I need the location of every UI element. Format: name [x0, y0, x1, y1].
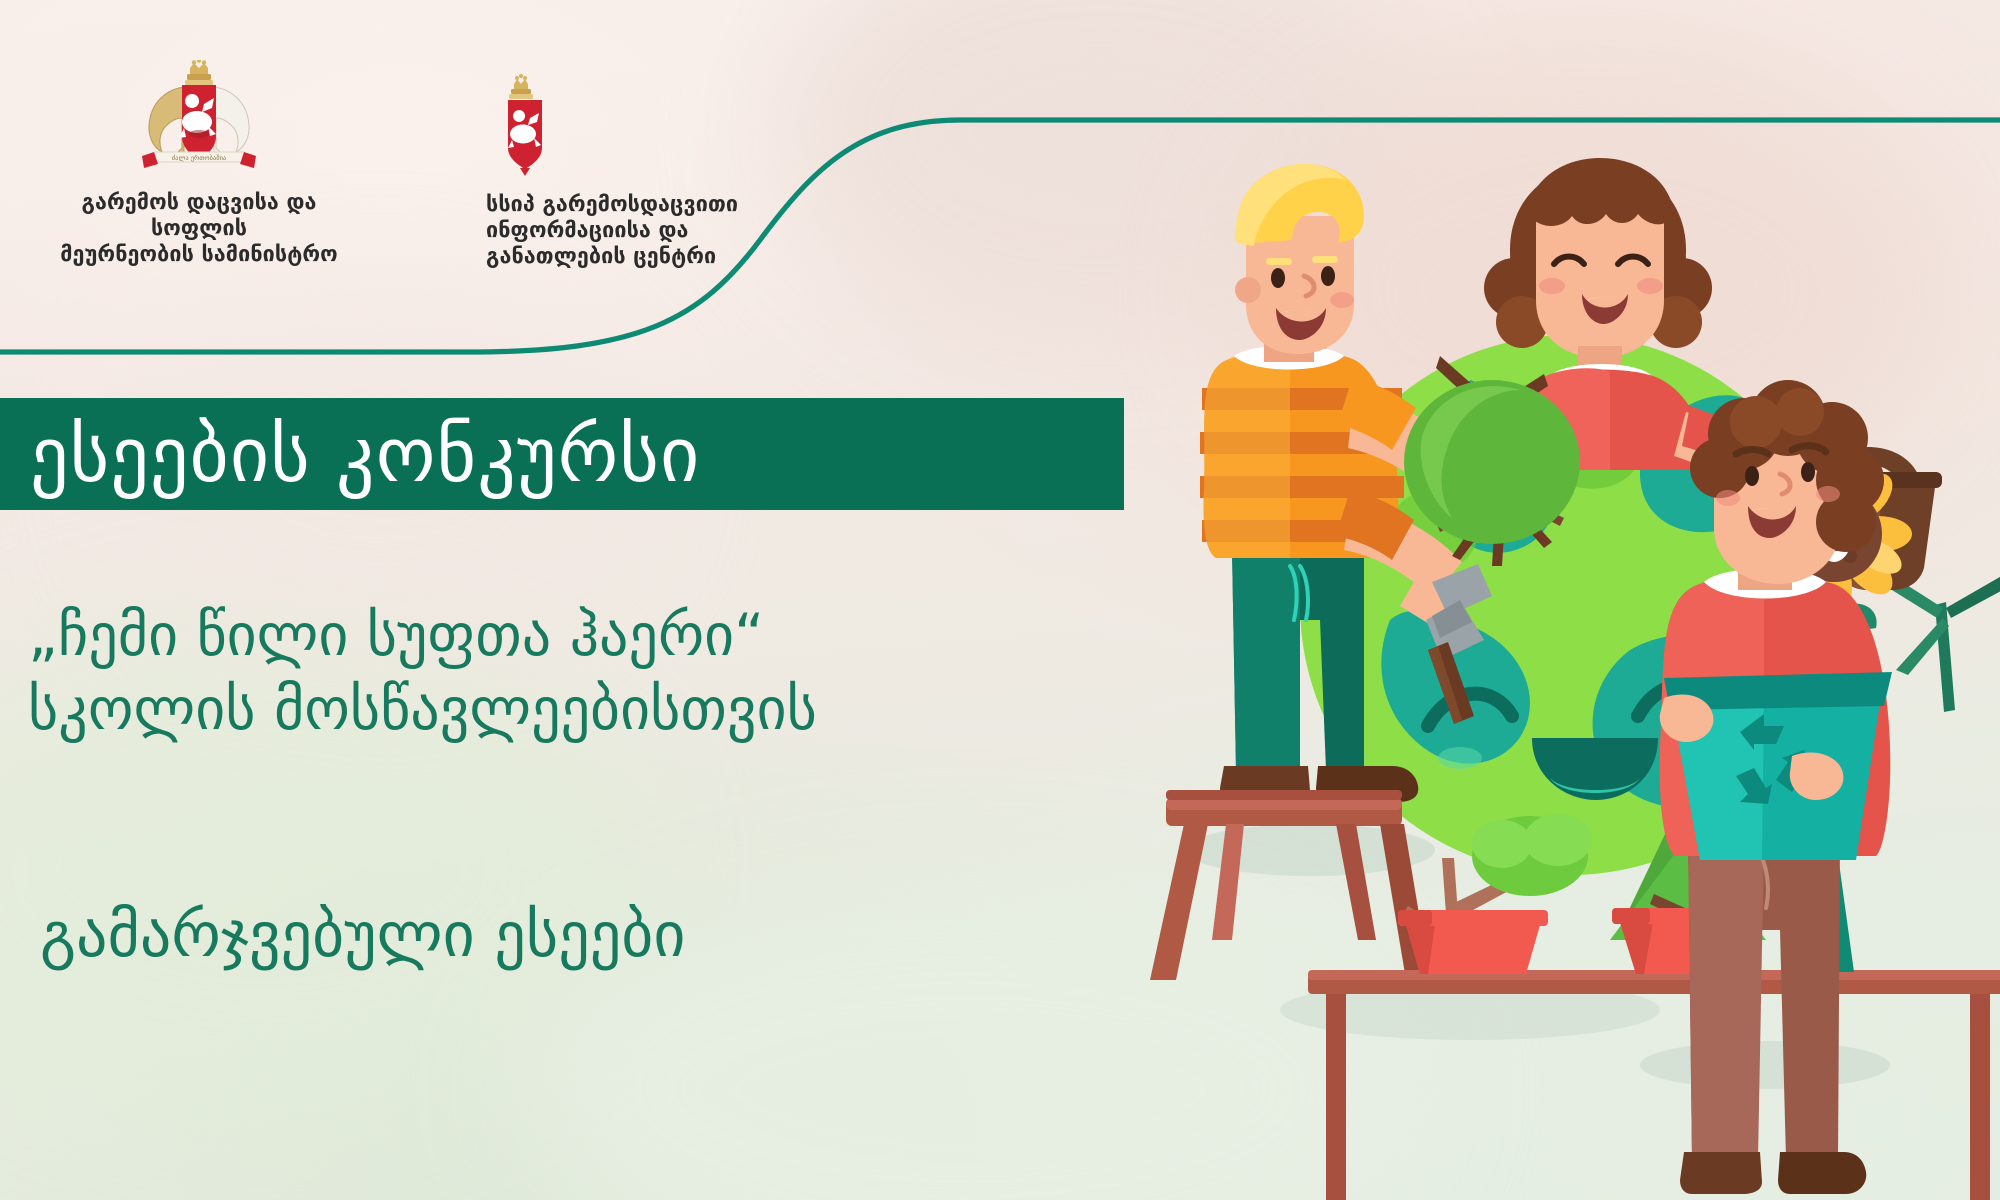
- georgia-shield-icon: [486, 72, 816, 180]
- logo-ministry-label: გარემოს დაცვისა და სოფლის მეურნეობის სამ…: [34, 190, 364, 269]
- logo-ministry: ძალა ერთობაშია გარემოს დაცვისა და სოფლის…: [34, 60, 364, 269]
- subtitle-line-2: სკოლის მოსწავლეებისთვის: [28, 672, 1208, 746]
- ground-shadow-right: [1640, 1041, 1890, 1089]
- logo-row: ძალა ერთობაშია გარემოს დაცვისა და სოფლის…: [0, 60, 900, 260]
- poster-canvas: ძალა ერთობაშია გარემოს დაცვისა და სოფლის…: [0, 0, 2000, 1200]
- illustration-children-caring-for-earth: [1140, 150, 2000, 1200]
- bottom-heading: გამარჯვებული ესეები: [40, 898, 1240, 971]
- subtitle-line-1: „ჩემი წილი სუფთა ჰაერი“: [28, 601, 764, 669]
- round-tree-behind: [1404, 380, 1580, 544]
- wooden-stool: [1150, 790, 1430, 980]
- subtitle-block: „ჩემი წილი სუფთა ჰაერი“ სკოლის მოსწავლეე…: [28, 598, 1208, 746]
- potted-sapling-left: [1398, 814, 1592, 974]
- logo-centre: სსიპ გარემოსდაცვითი ინფორმაციისა და განა…: [486, 72, 816, 271]
- svg-text:ძალა ერთობაშია: ძალა ერთობაშია: [172, 153, 226, 162]
- title-banner: ესეების კონკურსი: [0, 398, 1124, 510]
- georgia-coat-of-arms-icon: ძალა ერთობაშია: [34, 60, 364, 178]
- page-title: ესეების კონკურსი: [0, 410, 700, 499]
- logo-centre-label: სსიპ გარემოსდაცვითი ინფორმაციისა და განა…: [486, 192, 816, 271]
